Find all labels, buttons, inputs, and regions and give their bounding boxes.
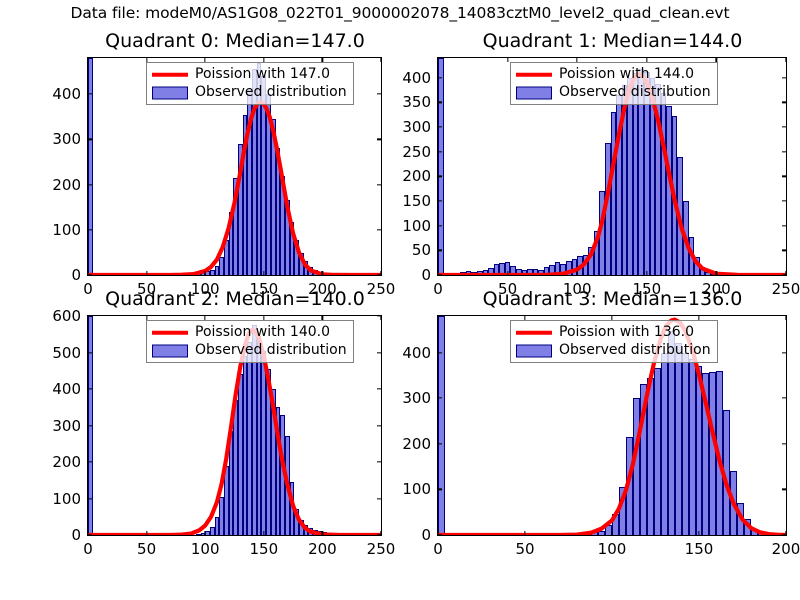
x-tick-label: 50 (137, 540, 156, 558)
x-tick-mark (611, 531, 612, 535)
x-tick-mark (380, 58, 381, 62)
x-tick-label: 150 (249, 540, 278, 558)
legend-patch-swatch-icon (516, 86, 552, 100)
legend-entry-observed: Observed distribution (152, 85, 347, 100)
y-tick-label: 300 (52, 130, 81, 148)
legend-label-poisson: Poission with 136.0 (559, 325, 694, 340)
y-tick-mark (88, 388, 92, 389)
x-tick-mark (437, 271, 438, 275)
legend-entry-poisson: Poission with 140.0 (152, 325, 347, 340)
y-tick-label: 200 (52, 453, 81, 471)
y-tick-mark (438, 225, 442, 226)
y-tick-mark (438, 151, 442, 152)
legend-label-poisson: Poission with 140.0 (195, 325, 330, 340)
x-tick-mark (205, 531, 206, 535)
y-tick-mark (88, 184, 92, 185)
y-tick-mark (377, 425, 381, 426)
y-tick-label: 400 (402, 69, 431, 87)
x-tick-mark (785, 271, 786, 275)
y-tick-mark (88, 94, 92, 95)
y-tick-mark (782, 225, 786, 226)
y-tick-mark (88, 139, 92, 140)
x-tick-label: 0 (433, 540, 443, 558)
y-tick-mark (377, 498, 381, 499)
y-tick-mark (88, 425, 92, 426)
y-tick-mark (438, 102, 442, 103)
y-tick-mark (782, 151, 786, 152)
x-tick-label: 200 (772, 540, 800, 558)
x-tick-label: 50 (515, 540, 534, 558)
y-tick-label: 400 (402, 344, 431, 362)
legend-entry-poisson: Poission with 147.0 (152, 67, 347, 82)
legend-entry-poisson: Poission with 144.0 (516, 67, 711, 82)
y-tick-mark (377, 94, 381, 95)
y-tick-mark (782, 200, 786, 201)
y-tick-label: 100 (402, 217, 431, 235)
x-tick-mark (577, 271, 578, 275)
y-tick-label: 100 (52, 221, 81, 239)
x-tick-mark (785, 316, 786, 320)
x-tick-mark (205, 271, 206, 275)
legend-entry-observed: Observed distribution (516, 343, 711, 358)
panel-title-quadrant-3: Quadrant 3: Median=136.0 (437, 288, 788, 310)
y-tick-mark (438, 397, 442, 398)
y-tick-label: 350 (402, 93, 431, 111)
x-tick-mark (716, 271, 717, 275)
y-tick-label: 250 (402, 143, 431, 161)
x-tick-mark (785, 531, 786, 535)
y-tick-label: 0 (421, 526, 431, 544)
y-tick-mark (782, 102, 786, 103)
panel-quadrant-0: Quadrant 0: Median=147.0 010020030040005… (87, 30, 383, 276)
y-tick-mark (438, 200, 442, 201)
x-tick-mark (263, 271, 264, 275)
legend-quadrant-0[interactable]: Poission with 147.0 Observed distributio… (146, 62, 354, 105)
axes-quadrant-3[interactable]: 0100200300400050100150200 Poission with … (437, 315, 787, 536)
figure-suptitle: Data file: modeM0/AS1G08_022T01_90000020… (0, 4, 800, 22)
legend-label-observed: Observed distribution (195, 343, 347, 358)
y-tick-mark (782, 443, 786, 444)
legend-entry-poisson: Poission with 136.0 (516, 325, 711, 340)
x-tick-mark (437, 531, 438, 535)
x-tick-label: 200 (308, 540, 337, 558)
x-tick-label: 100 (598, 540, 627, 558)
y-tick-mark (782, 176, 786, 177)
y-tick-mark (88, 498, 92, 499)
x-tick-mark (380, 271, 381, 275)
y-tick-label: 300 (402, 118, 431, 136)
x-tick-label: 150 (685, 540, 714, 558)
y-tick-label: 100 (52, 490, 81, 508)
panel-title-quadrant-2: Quadrant 2: Median=140.0 (87, 288, 383, 310)
legend-label-poisson: Poission with 144.0 (559, 67, 694, 82)
y-tick-label: 150 (402, 192, 431, 210)
legend-quadrant-3[interactable]: Poission with 136.0 Observed distributio… (510, 320, 718, 363)
figure-canvas: Data file: modeM0/AS1G08_022T01_90000020… (0, 0, 800, 600)
legend-quadrant-1[interactable]: Poission with 144.0 Observed distributio… (510, 62, 718, 105)
y-tick-mark (438, 126, 442, 127)
legend-patch-swatch-icon (152, 344, 188, 358)
y-tick-label: 100 (402, 480, 431, 498)
x-tick-mark (87, 316, 88, 320)
legend-line-swatch-icon (516, 326, 552, 340)
x-tick-mark (322, 271, 323, 275)
legend-label-poisson: Poission with 147.0 (195, 67, 330, 82)
panel-quadrant-3: Quadrant 3: Median=136.0 010020030040005… (437, 288, 788, 536)
x-tick-mark (437, 58, 438, 62)
legend-label-observed: Observed distribution (559, 85, 711, 100)
y-tick-mark (782, 397, 786, 398)
poisson-fit-line (88, 102, 381, 275)
y-tick-mark (438, 77, 442, 78)
x-tick-mark (380, 531, 381, 535)
y-tick-label: 400 (52, 85, 81, 103)
y-tick-label: 0 (71, 526, 81, 544)
panel-quadrant-2: Quadrant 2: Median=140.0 010020030040050… (87, 288, 383, 536)
legend-entry-observed: Observed distribution (516, 85, 711, 100)
y-tick-label: 0 (421, 266, 431, 284)
y-tick-label: 200 (402, 435, 431, 453)
y-tick-mark (438, 176, 442, 177)
y-tick-mark (88, 229, 92, 230)
y-tick-mark (782, 126, 786, 127)
x-tick-mark (646, 271, 647, 275)
y-tick-mark (438, 443, 442, 444)
x-tick-mark (698, 531, 699, 535)
legend-quadrant-2[interactable]: Poission with 140.0 Observed distributio… (146, 320, 354, 363)
y-tick-label: 200 (402, 167, 431, 185)
legend-patch-swatch-icon (152, 86, 188, 100)
x-tick-label: 100 (191, 540, 220, 558)
y-tick-mark (782, 489, 786, 490)
panel-title-quadrant-1: Quadrant 1: Median=144.0 (437, 30, 788, 52)
y-tick-label: 400 (52, 380, 81, 398)
y-tick-label: 300 (402, 389, 431, 407)
legend-line-swatch-icon (152, 68, 188, 82)
y-tick-mark (88, 352, 92, 353)
axes-quadrant-0[interactable]: 0100200300400050100150200250 Poission wi… (87, 57, 382, 276)
y-tick-label: 500 (52, 344, 81, 362)
x-tick-label: 250 (367, 540, 396, 558)
x-tick-mark (146, 531, 147, 535)
x-tick-mark (785, 58, 786, 62)
x-tick-mark (380, 316, 381, 320)
x-tick-mark (507, 271, 508, 275)
legend-label-observed: Observed distribution (559, 343, 711, 358)
y-tick-label: 0 (71, 266, 81, 284)
y-tick-mark (377, 184, 381, 185)
x-tick-mark (524, 531, 525, 535)
x-tick-mark (87, 271, 88, 275)
x-tick-mark (322, 531, 323, 535)
axes-quadrant-1[interactable]: 050100150200250300350400050100150200250 … (437, 57, 787, 276)
panel-quadrant-1: Quadrant 1: Median=144.0 050100150200250… (437, 30, 788, 276)
y-tick-mark (377, 461, 381, 462)
x-tick-label: 0 (83, 540, 93, 558)
y-tick-mark (438, 250, 442, 251)
x-tick-mark (146, 271, 147, 275)
legend-label-observed: Observed distribution (195, 85, 347, 100)
y-tick-mark (782, 352, 786, 353)
legend-patch-swatch-icon (516, 344, 552, 358)
x-tick-mark (507, 58, 508, 62)
x-tick-mark (263, 531, 264, 535)
y-tick-mark (377, 229, 381, 230)
legend-line-swatch-icon (152, 326, 188, 340)
axes-quadrant-2[interactable]: 0100200300400500600050100150200250 Poiss… (87, 315, 382, 536)
x-tick-mark (437, 316, 438, 320)
y-tick-mark (377, 139, 381, 140)
x-tick-mark (87, 58, 88, 62)
legend-line-swatch-icon (516, 68, 552, 82)
y-tick-label: 300 (52, 417, 81, 435)
y-tick-label: 600 (52, 307, 81, 325)
y-tick-mark (782, 250, 786, 251)
x-tick-mark (87, 531, 88, 535)
y-tick-label: 50 (412, 241, 431, 259)
y-tick-mark (377, 352, 381, 353)
y-tick-mark (377, 388, 381, 389)
y-tick-mark (88, 461, 92, 462)
legend-entry-observed: Observed distribution (152, 343, 347, 358)
y-tick-mark (438, 352, 442, 353)
panel-title-quadrant-0: Quadrant 0: Median=147.0 (87, 30, 383, 52)
y-tick-mark (782, 77, 786, 78)
y-tick-label: 200 (52, 176, 81, 194)
y-tick-mark (438, 489, 442, 490)
